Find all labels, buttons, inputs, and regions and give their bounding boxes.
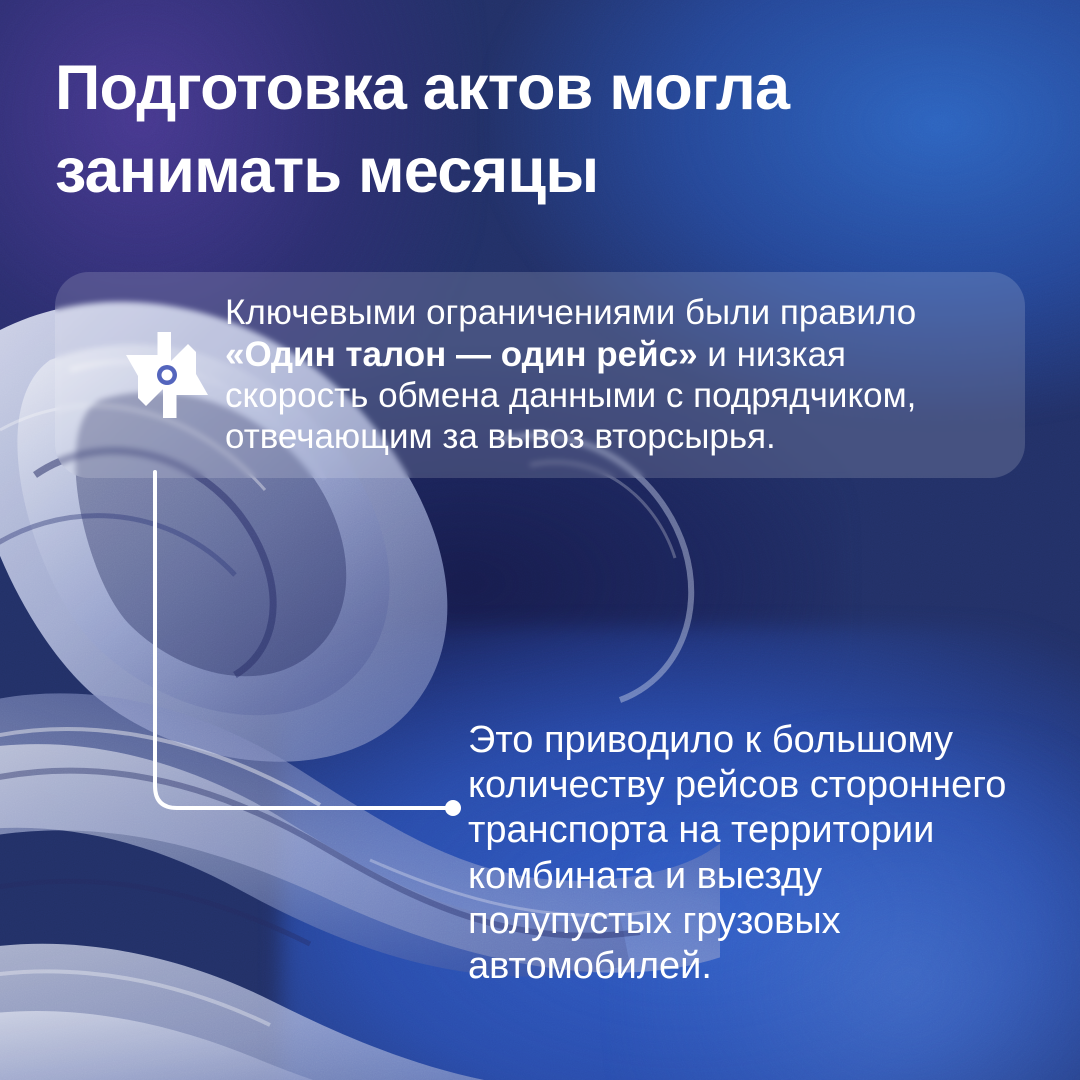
slide-canvas: Подготовка актов могла занимать месяцы К… xyxy=(0,0,1080,1080)
card-text-part-1: Ключевыми ограничениями были правило xyxy=(225,293,916,332)
card-text: Ключевыми ограничениями были правило «Од… xyxy=(225,292,983,457)
card-text-part-2: «Один талон — один рейс» xyxy=(225,335,698,374)
page-title: Подготовка актов могла занимать месяцы xyxy=(55,47,985,213)
data-exchange-icon xyxy=(113,327,221,423)
lower-paragraph: Это приводило к большому количеству рейс… xyxy=(468,718,1048,989)
info-card: Ключевыми ограничениями были правило «Од… xyxy=(55,272,1025,478)
